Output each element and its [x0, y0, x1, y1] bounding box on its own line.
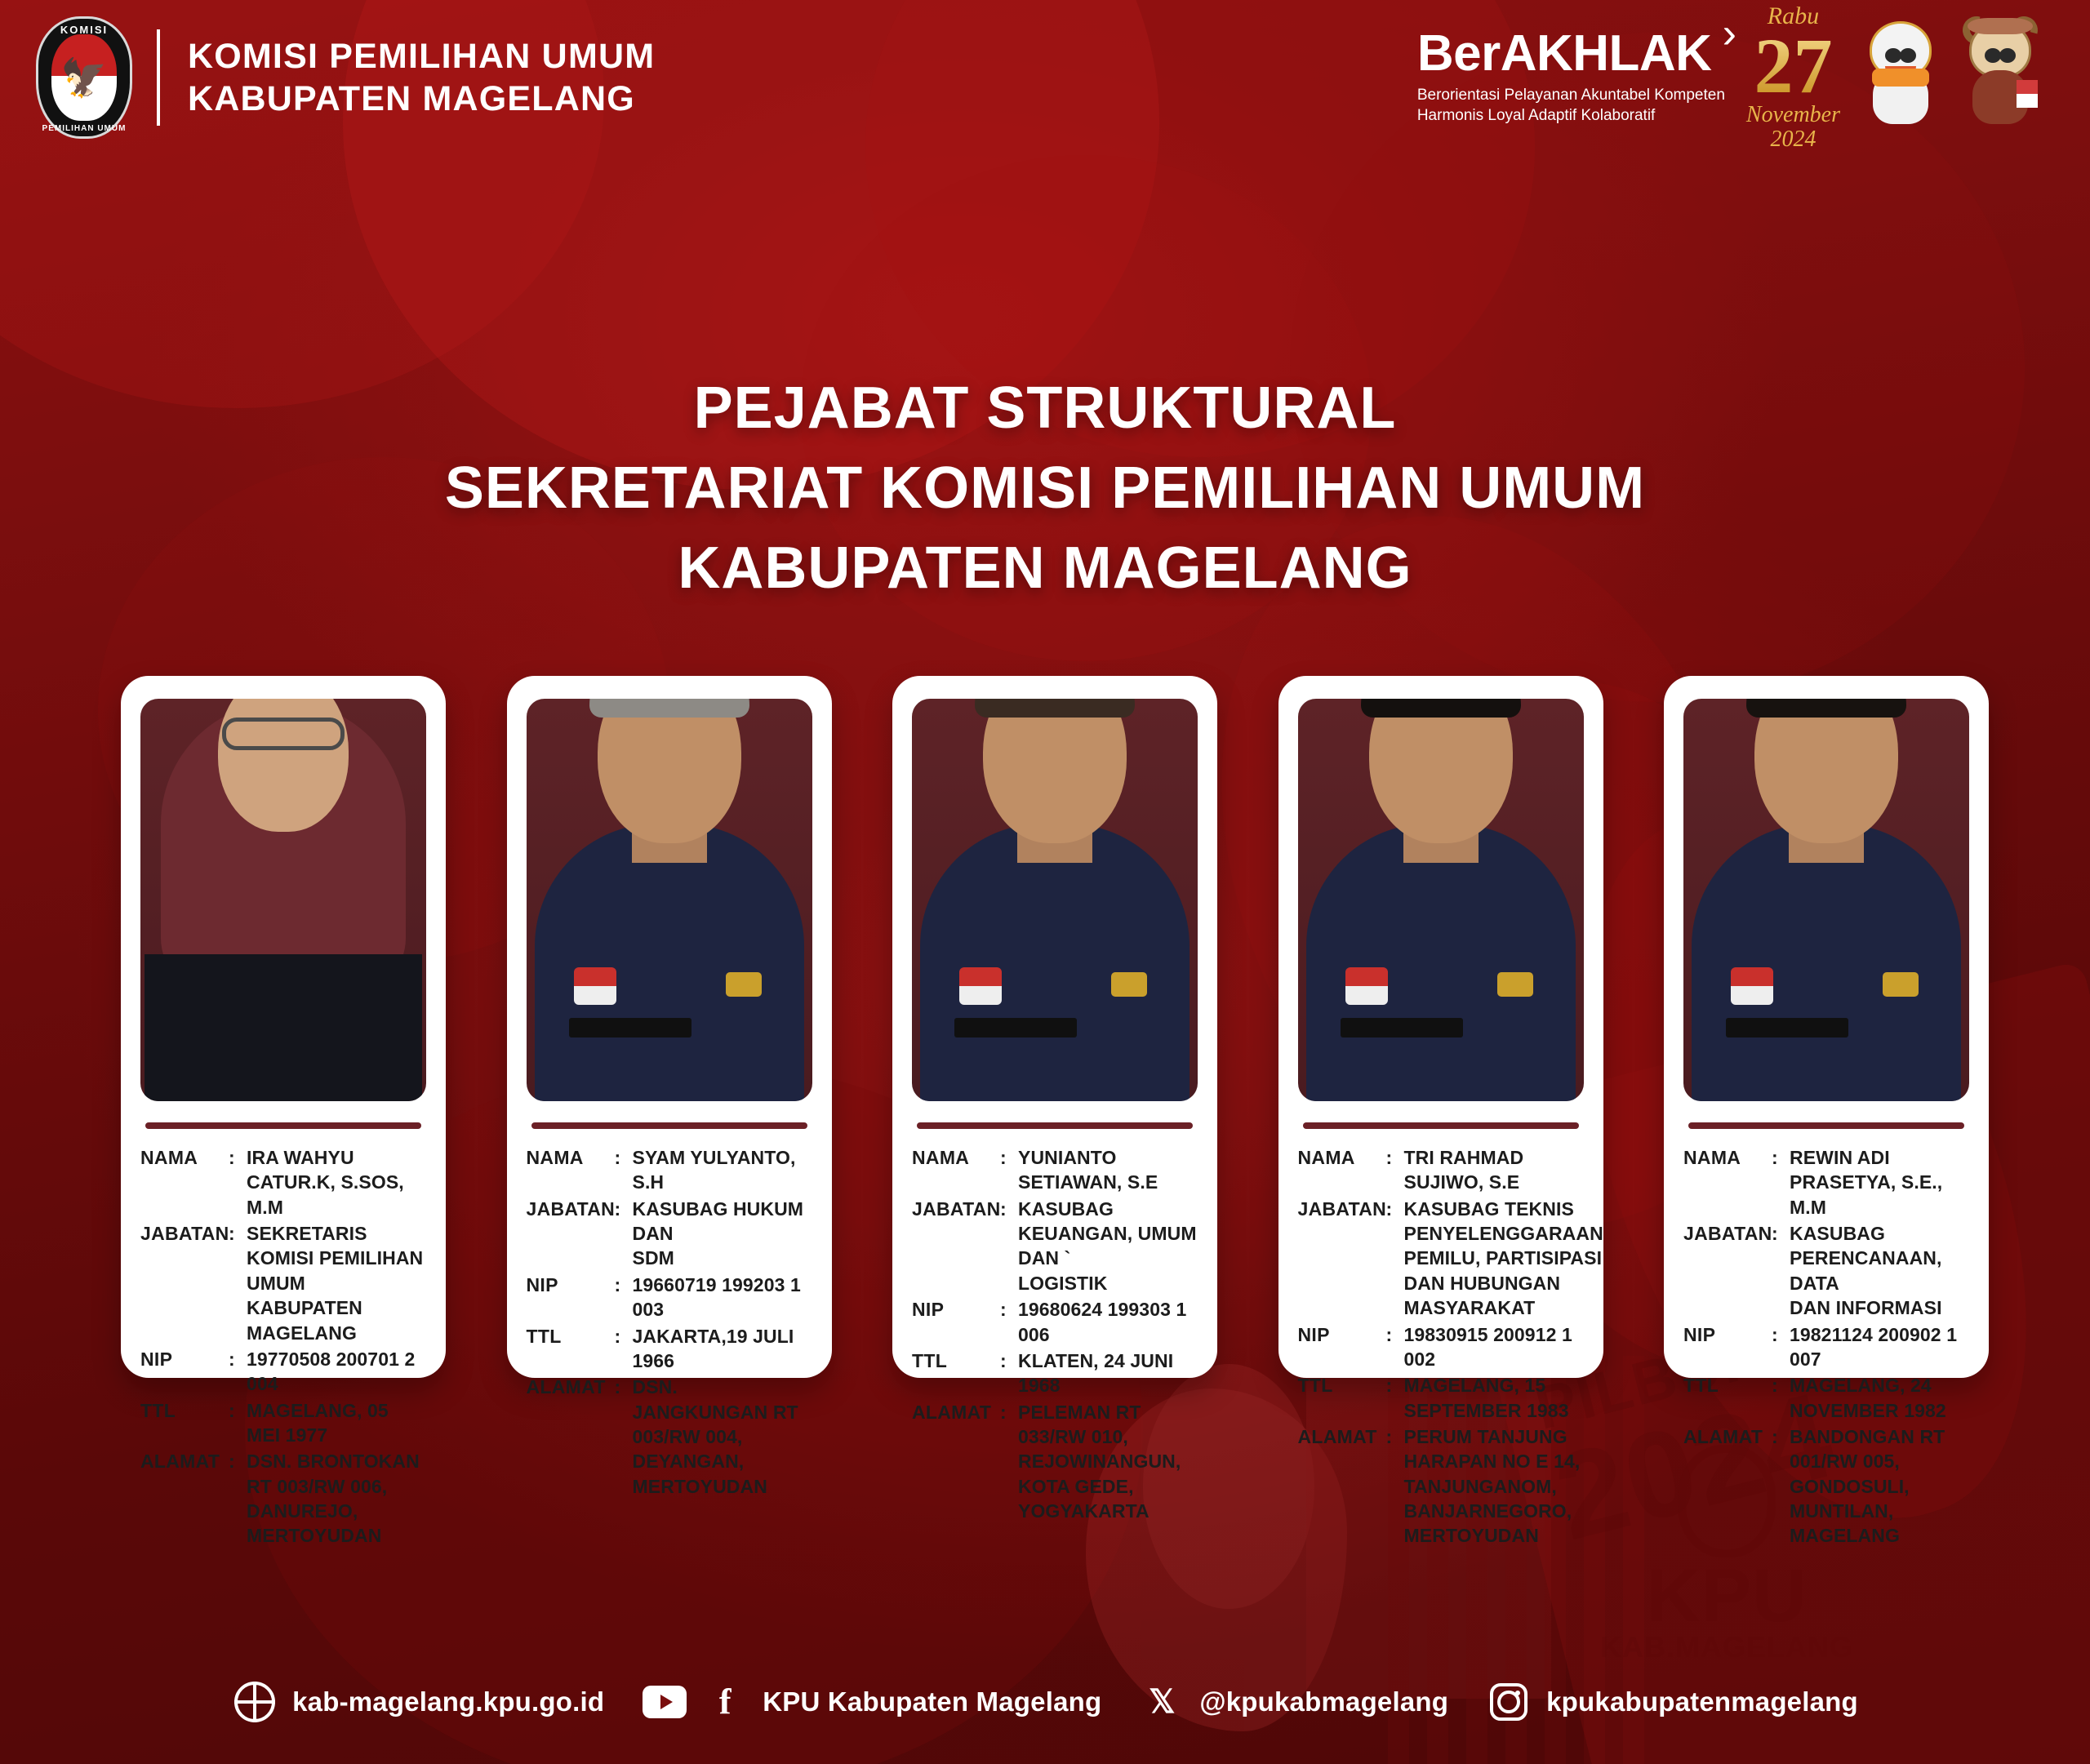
label-alamat: ALAMAT — [1298, 1424, 1386, 1449]
field-ttl: TTL:JAKARTA,19 JULI 1966 — [527, 1324, 812, 1374]
field-alamat: ALAMAT:DSN. BRONTOKAN RT 003/RW 006,DANU… — [140, 1449, 426, 1548]
value-jabatan-l3: KABUPATEN MAGELANG — [247, 1295, 426, 1345]
label-jabatan: JABATAN — [912, 1197, 1000, 1221]
berakhlak-sub-line1: Berorientasi Pelayanan Akuntabel Kompete… — [1417, 86, 1725, 106]
field-nip: NIP:19660719 199203 1 003 — [527, 1273, 812, 1322]
label-jabatan: JABATAN — [140, 1221, 229, 1246]
field-alamat: ALAMAT:PELEMAN RT 033/RW 010,REJOWINANGU… — [912, 1400, 1198, 1524]
value-alamat-l3: YOGYAKARTA — [1018, 1499, 1198, 1523]
value-jabatan: KASUBAG KEUANGAN, UMUM DAN `LOGISTIK — [1018, 1197, 1198, 1295]
colon: : — [1000, 1400, 1018, 1424]
facebook-icon[interactable]: f — [702, 1679, 748, 1725]
value-alamat-l2: GONDOSULI, MUNTILAN, MAGELANG — [1790, 1474, 1969, 1548]
label-jabatan: JABATAN — [527, 1197, 615, 1221]
footer-twitter[interactable]: 𝕏 @kpukabmagelang — [1139, 1679, 1448, 1725]
value-alamat: PELEMAN RT 033/RW 010,REJOWINANGUN, KOTA… — [1018, 1400, 1198, 1524]
colon: : — [615, 1375, 633, 1399]
label-jabatan: JABATAN — [1683, 1221, 1772, 1246]
value-alamat-l1: PELEMAN RT 033/RW 010, — [1018, 1402, 1141, 1447]
value-jabatan-l3: MASYARAKAT — [1404, 1295, 1603, 1320]
value-nip: 19821124 200902 1 007 — [1790, 1322, 1969, 1372]
value-alamat: BANDONGAN RT 001/RW 005,GONDOSULI, MUNTI… — [1790, 1424, 1969, 1548]
title-line-2: SEKRETARIAT KOMISI PEMILIHAN UMUM — [0, 449, 2090, 529]
colon: : — [229, 1449, 247, 1473]
label-nip: NIP — [527, 1273, 615, 1297]
footer-facebook[interactable]: f KPU Kabupaten Magelang — [642, 1679, 1101, 1725]
berakhlak-logo: BerAKHLAK › Berorientasi Pelayanan Akunt… — [1417, 29, 1725, 126]
label-nama: NAMA — [1298, 1145, 1386, 1170]
field-jabatan: JABATAN:SEKRETARISKOMISI PEMILIHAN UMUMK… — [140, 1221, 426, 1345]
colon: : — [1000, 1145, 1018, 1170]
colon: : — [615, 1273, 633, 1297]
header-title-line1: KOMISI PEMILIHAN UMUM — [188, 35, 655, 78]
colon: : — [1772, 1221, 1790, 1246]
value-alamat-l1: DSN. JANGKUNGAN RT 003/RW 004, — [633, 1376, 798, 1447]
label-nama: NAMA — [912, 1145, 1000, 1170]
title-line-3: KABUPATEN MAGELANG — [0, 529, 2090, 609]
value-ttl: JAKARTA,19 JULI 1966 — [633, 1324, 812, 1374]
watermark-kpu-text: KPU — [1600, 1562, 1853, 1630]
election-date-badge: Rabu 27 November 2024 — [1746, 4, 1840, 151]
value-nip: 19660719 199203 1 003 — [633, 1273, 812, 1322]
poster-root: PILBUP MA 2024 KPU KAB.MAGELANG 🦅 KOMISI… — [0, 0, 2090, 1764]
label-ttl: TTL — [1683, 1373, 1772, 1397]
x-twitter-icon[interactable]: 𝕏 — [1139, 1679, 1185, 1725]
website-text: kab-magelang.kpu.go.id — [292, 1686, 604, 1717]
value-jabatan: SEKRETARISKOMISI PEMILIHAN UMUMKABUPATEN… — [247, 1221, 426, 1345]
value-jabatan-l2: KOMISI PEMILIHAN UMUM — [247, 1246, 426, 1295]
colon: : — [1772, 1322, 1790, 1347]
field-nip: NIP:19770508 200701 2 004 — [140, 1347, 426, 1397]
value-nip: 19830915 200912 1 002 — [1404, 1322, 1584, 1372]
baya-goat-mascot-icon — [1961, 16, 2039, 139]
field-jabatan: JABATAN:KASUBAG HUKUM DANSDM — [527, 1197, 812, 1271]
value-nama: SYAM YULYANTO, S.H — [633, 1145, 812, 1195]
colon: : — [229, 1398, 247, 1423]
page-header: 🦅 KOMISI PEMILIHAN UMUM KOMISI PEMILIHAN… — [0, 0, 2090, 155]
label-nip: NIP — [1298, 1322, 1386, 1347]
colon: : — [1386, 1424, 1404, 1449]
value-jabatan-l1: KASUBAG TEKNIS PENYELENGGARAAN — [1404, 1198, 1603, 1244]
colon: : — [229, 1347, 247, 1371]
berakhlak-sub-line2: Harmonis Loyal Adaptif Kolaboratif — [1417, 106, 1725, 127]
field-nip: NIP:19680624 199303 1 006 — [912, 1297, 1198, 1347]
sura-mascot-icon — [1861, 16, 1940, 139]
date-month: November — [1746, 103, 1840, 127]
colon: : — [1772, 1424, 1790, 1449]
value-ttl: MAGELANG, 24 NOVEMBER 1982 — [1790, 1373, 1969, 1423]
value-nama: YUNIANTO SETIAWAN, S.E — [1018, 1145, 1198, 1195]
colon: : — [615, 1324, 633, 1349]
card-divider — [917, 1122, 1193, 1129]
field-ttl: TTL:MAGELANG, 05 MEI 1977 — [140, 1398, 426, 1448]
field-ttl: TTL:MAGELANG, 15 SEPTEMBER 1983 — [1298, 1373, 1584, 1423]
value-ttl: KLATEN, 24 JUNI 1968 — [1018, 1349, 1198, 1398]
field-jabatan: JABATAN:KASUBAG PERENCANAAN, DATADAN INF… — [1683, 1221, 1969, 1320]
watermark-kpu-sub-text: KAB.MAGELANG — [1600, 1630, 1853, 1664]
value-jabatan-l1: KASUBAG PERENCANAAN, DATA — [1790, 1223, 1942, 1294]
field-nama: NAMA:SYAM YULYANTO, S.H — [527, 1145, 812, 1195]
value-jabatan-l2: PEMILU, PARTISIPASI DAN HUBUNGAN — [1404, 1246, 1603, 1295]
field-ttl: TTL:KLATEN, 24 JUNI 1968 — [912, 1349, 1198, 1398]
garuda-glyph-icon: 🦅 — [60, 59, 107, 96]
value-nip: 19680624 199303 1 006 — [1018, 1297, 1198, 1347]
value-alamat-l2: TANJUNGANOM, BANJARNEGORO, — [1404, 1474, 1584, 1524]
field-nip: NIP:19821124 200902 1 007 — [1683, 1322, 1969, 1372]
colon: : — [1000, 1197, 1018, 1221]
value-alamat-l1: DSN. BRONTOKAN RT 003/RW 006, — [247, 1451, 420, 1496]
header-divider — [157, 29, 160, 126]
facebook-text: KPU Kabupaten Magelang — [763, 1686, 1101, 1717]
value-nama: TRI RAHMAD SUJIWO, S.E — [1404, 1145, 1584, 1195]
logo-ring-bottom-text: PEMILIHAN UMUM — [36, 124, 132, 133]
value-jabatan-l1: KASUBAG HUKUM DAN — [633, 1198, 804, 1244]
field-ttl: TTL:MAGELANG, 24 NOVEMBER 1982 — [1683, 1373, 1969, 1423]
footer-social-bar: kab-magelang.kpu.go.id f KPU Kabupaten M… — [0, 1679, 2090, 1725]
label-nip: NIP — [1683, 1322, 1772, 1347]
label-alamat: ALAMAT — [912, 1400, 1000, 1424]
value-nip: 19770508 200701 2 004 — [247, 1347, 426, 1397]
card-divider — [1303, 1122, 1579, 1129]
label-ttl: TTL — [912, 1349, 1000, 1373]
colon: : — [1386, 1145, 1404, 1170]
official-card[interactable]: NAMA:TRI RAHMAD SUJIWO, S.E JABATAN:KASU… — [1278, 676, 1603, 1378]
berakhlak-caret-icon: › — [1723, 12, 1736, 55]
field-nama: NAMA:YUNIANTO SETIAWAN, S.E — [912, 1145, 1198, 1195]
label-alamat: ALAMAT — [527, 1375, 615, 1399]
value-alamat: DSN. BRONTOKAN RT 003/RW 006,DANUREJO, M… — [247, 1449, 426, 1548]
official-photo — [1298, 699, 1584, 1101]
value-alamat: DSN. JANGKUNGAN RT 003/RW 004,DEYANGAN, … — [633, 1375, 812, 1499]
field-nama: NAMA:REWIN ADI PRASETYA, S.E., M.M — [1683, 1145, 1969, 1220]
official-card[interactable]: NAMA:REWIN ADI PRASETYA, S.E., M.M JABAT… — [1664, 676, 1989, 1378]
colon: : — [1000, 1297, 1018, 1322]
instagram-text: kpukabupatenmagelang — [1546, 1686, 1858, 1717]
label-jabatan: JABATAN — [1298, 1197, 1386, 1221]
berakhlak-main-text: BerAKHLAK — [1417, 25, 1712, 82]
label-nama: NAMA — [1683, 1145, 1772, 1170]
footer-website[interactable]: kab-magelang.kpu.go.id — [232, 1679, 604, 1725]
value-alamat-l1: PERUM TANJUNG HARAPAN NO E 14, — [1404, 1426, 1581, 1472]
value-jabatan-l1: SEKRETARIS — [247, 1223, 367, 1244]
label-nama: NAMA — [527, 1145, 615, 1170]
value-jabatan: KASUBAG PERENCANAAN, DATADAN INFORMASI — [1790, 1221, 1969, 1320]
kpu-logo-icon: 🦅 KOMISI PEMILIHAN UMUM — [36, 16, 132, 139]
label-alamat: ALAMAT — [1683, 1424, 1772, 1449]
field-nip: NIP:19830915 200912 1 002 — [1298, 1322, 1584, 1372]
youtube-icon[interactable] — [642, 1679, 687, 1725]
value-alamat-l2: DANUREJO, MERTOYUDAN — [247, 1499, 426, 1548]
card-divider — [145, 1122, 421, 1129]
official-card[interactable]: NAMA:SYAM YULYANTO, S.H JABATAN:KASUBAG … — [507, 676, 832, 1378]
globe-icon — [232, 1679, 278, 1725]
label-nip: NIP — [912, 1297, 1000, 1322]
logo-ring-top-text: KOMISI — [36, 24, 132, 36]
officials-card-list: NAMA:IRA WAHYU CATUR.K, S.SOS, M.M JABAT… — [121, 676, 1989, 1378]
value-ttl: MAGELANG, 05 MEI 1977 — [247, 1398, 426, 1448]
colon: : — [615, 1145, 633, 1170]
instagram-icon[interactable] — [1486, 1679, 1532, 1725]
value-alamat-l2: DEYANGAN, MERTOYUDAN — [633, 1449, 812, 1499]
official-photo — [527, 699, 812, 1101]
value-jabatan-l2: LOGISTIK — [1018, 1271, 1198, 1295]
field-nama: NAMA:TRI RAHMAD SUJIWO, S.E — [1298, 1145, 1584, 1195]
value-alamat: PERUM TANJUNG HARAPAN NO E 14,TANJUNGANO… — [1404, 1424, 1584, 1548]
colon: : — [1772, 1373, 1790, 1397]
label-nama: NAMA — [140, 1145, 229, 1170]
value-nama: IRA WAHYU CATUR.K, S.SOS, M.M — [247, 1145, 426, 1220]
field-alamat: ALAMAT:PERUM TANJUNG HARAPAN NO E 14,TAN… — [1298, 1424, 1584, 1548]
label-nip: NIP — [140, 1347, 229, 1371]
label-ttl: TTL — [527, 1324, 615, 1349]
label-alamat: ALAMAT — [140, 1449, 229, 1473]
header-title-line2: KABUPATEN MAGELANG — [188, 78, 655, 120]
header-right-group: BerAKHLAK › Berorientasi Pelayanan Akunt… — [1417, 4, 2054, 151]
field-jabatan: JABATAN:KASUBAG TEKNIS PENYELENGGARAANPE… — [1298, 1197, 1584, 1321]
field-alamat: ALAMAT:BANDONGAN RT 001/RW 005,GONDOSULI… — [1683, 1424, 1969, 1548]
official-card[interactable]: NAMA:IRA WAHYU CATUR.K, S.SOS, M.M JABAT… — [121, 676, 446, 1378]
value-jabatan-l1: KASUBAG KEUANGAN, UMUM DAN ` — [1018, 1198, 1197, 1269]
title-line-1: PEJABAT STRUKTURAL — [0, 369, 2090, 449]
official-photo — [1683, 699, 1969, 1101]
colon: : — [229, 1145, 247, 1170]
card-divider — [531, 1122, 807, 1129]
date-day-number: 27 — [1746, 29, 1840, 103]
twitter-text: @kpukabmagelang — [1199, 1686, 1448, 1717]
date-year: 2024 — [1746, 127, 1840, 151]
value-jabatan: KASUBAG TEKNIS PENYELENGGARAANPEMILU, PA… — [1404, 1197, 1603, 1321]
footer-instagram[interactable]: kpukabupatenmagelang — [1486, 1679, 1858, 1725]
value-jabatan-l2: SDM — [633, 1246, 812, 1270]
colon: : — [1386, 1373, 1404, 1397]
page-title: PEJABAT STRUKTURAL SEKRETARIAT KOMISI PE… — [0, 369, 2090, 609]
value-jabatan: KASUBAG HUKUM DANSDM — [633, 1197, 812, 1271]
field-jabatan: JABATAN:KASUBAG KEUANGAN, UMUM DAN `LOGI… — [912, 1197, 1198, 1295]
field-alamat: ALAMAT:DSN. JANGKUNGAN RT 003/RW 004,DEY… — [527, 1375, 812, 1499]
value-alamat-l2: REJOWINANGUN, KOTA GEDE, — [1018, 1449, 1198, 1499]
value-jabatan-l2: DAN INFORMASI — [1790, 1295, 1969, 1320]
colon: : — [1386, 1322, 1404, 1347]
value-ttl: MAGELANG, 15 SEPTEMBER 1983 — [1404, 1373, 1584, 1423]
colon: : — [1386, 1197, 1404, 1221]
header-title-group: KOMISI PEMILIHAN UMUM KABUPATEN MAGELANG — [188, 35, 655, 121]
colon: : — [615, 1197, 633, 1221]
official-card[interactable]: NAMA:YUNIANTO SETIAWAN, S.E JABATAN:KASU… — [892, 676, 1217, 1378]
official-photo — [140, 699, 426, 1101]
label-ttl: TTL — [140, 1398, 229, 1423]
card-divider — [1688, 1122, 1964, 1129]
official-photo — [912, 699, 1198, 1101]
value-nama: REWIN ADI PRASETYA, S.E., M.M — [1790, 1145, 1969, 1220]
colon: : — [1000, 1349, 1018, 1373]
colon: : — [1772, 1145, 1790, 1170]
colon: : — [229, 1221, 247, 1246]
label-ttl: TTL — [1298, 1373, 1386, 1397]
value-alamat-l3: MERTOYUDAN — [1404, 1523, 1584, 1548]
field-nama: NAMA:IRA WAHYU CATUR.K, S.SOS, M.M — [140, 1145, 426, 1220]
value-alamat-l1: BANDONGAN RT 001/RW 005, — [1790, 1426, 1945, 1472]
